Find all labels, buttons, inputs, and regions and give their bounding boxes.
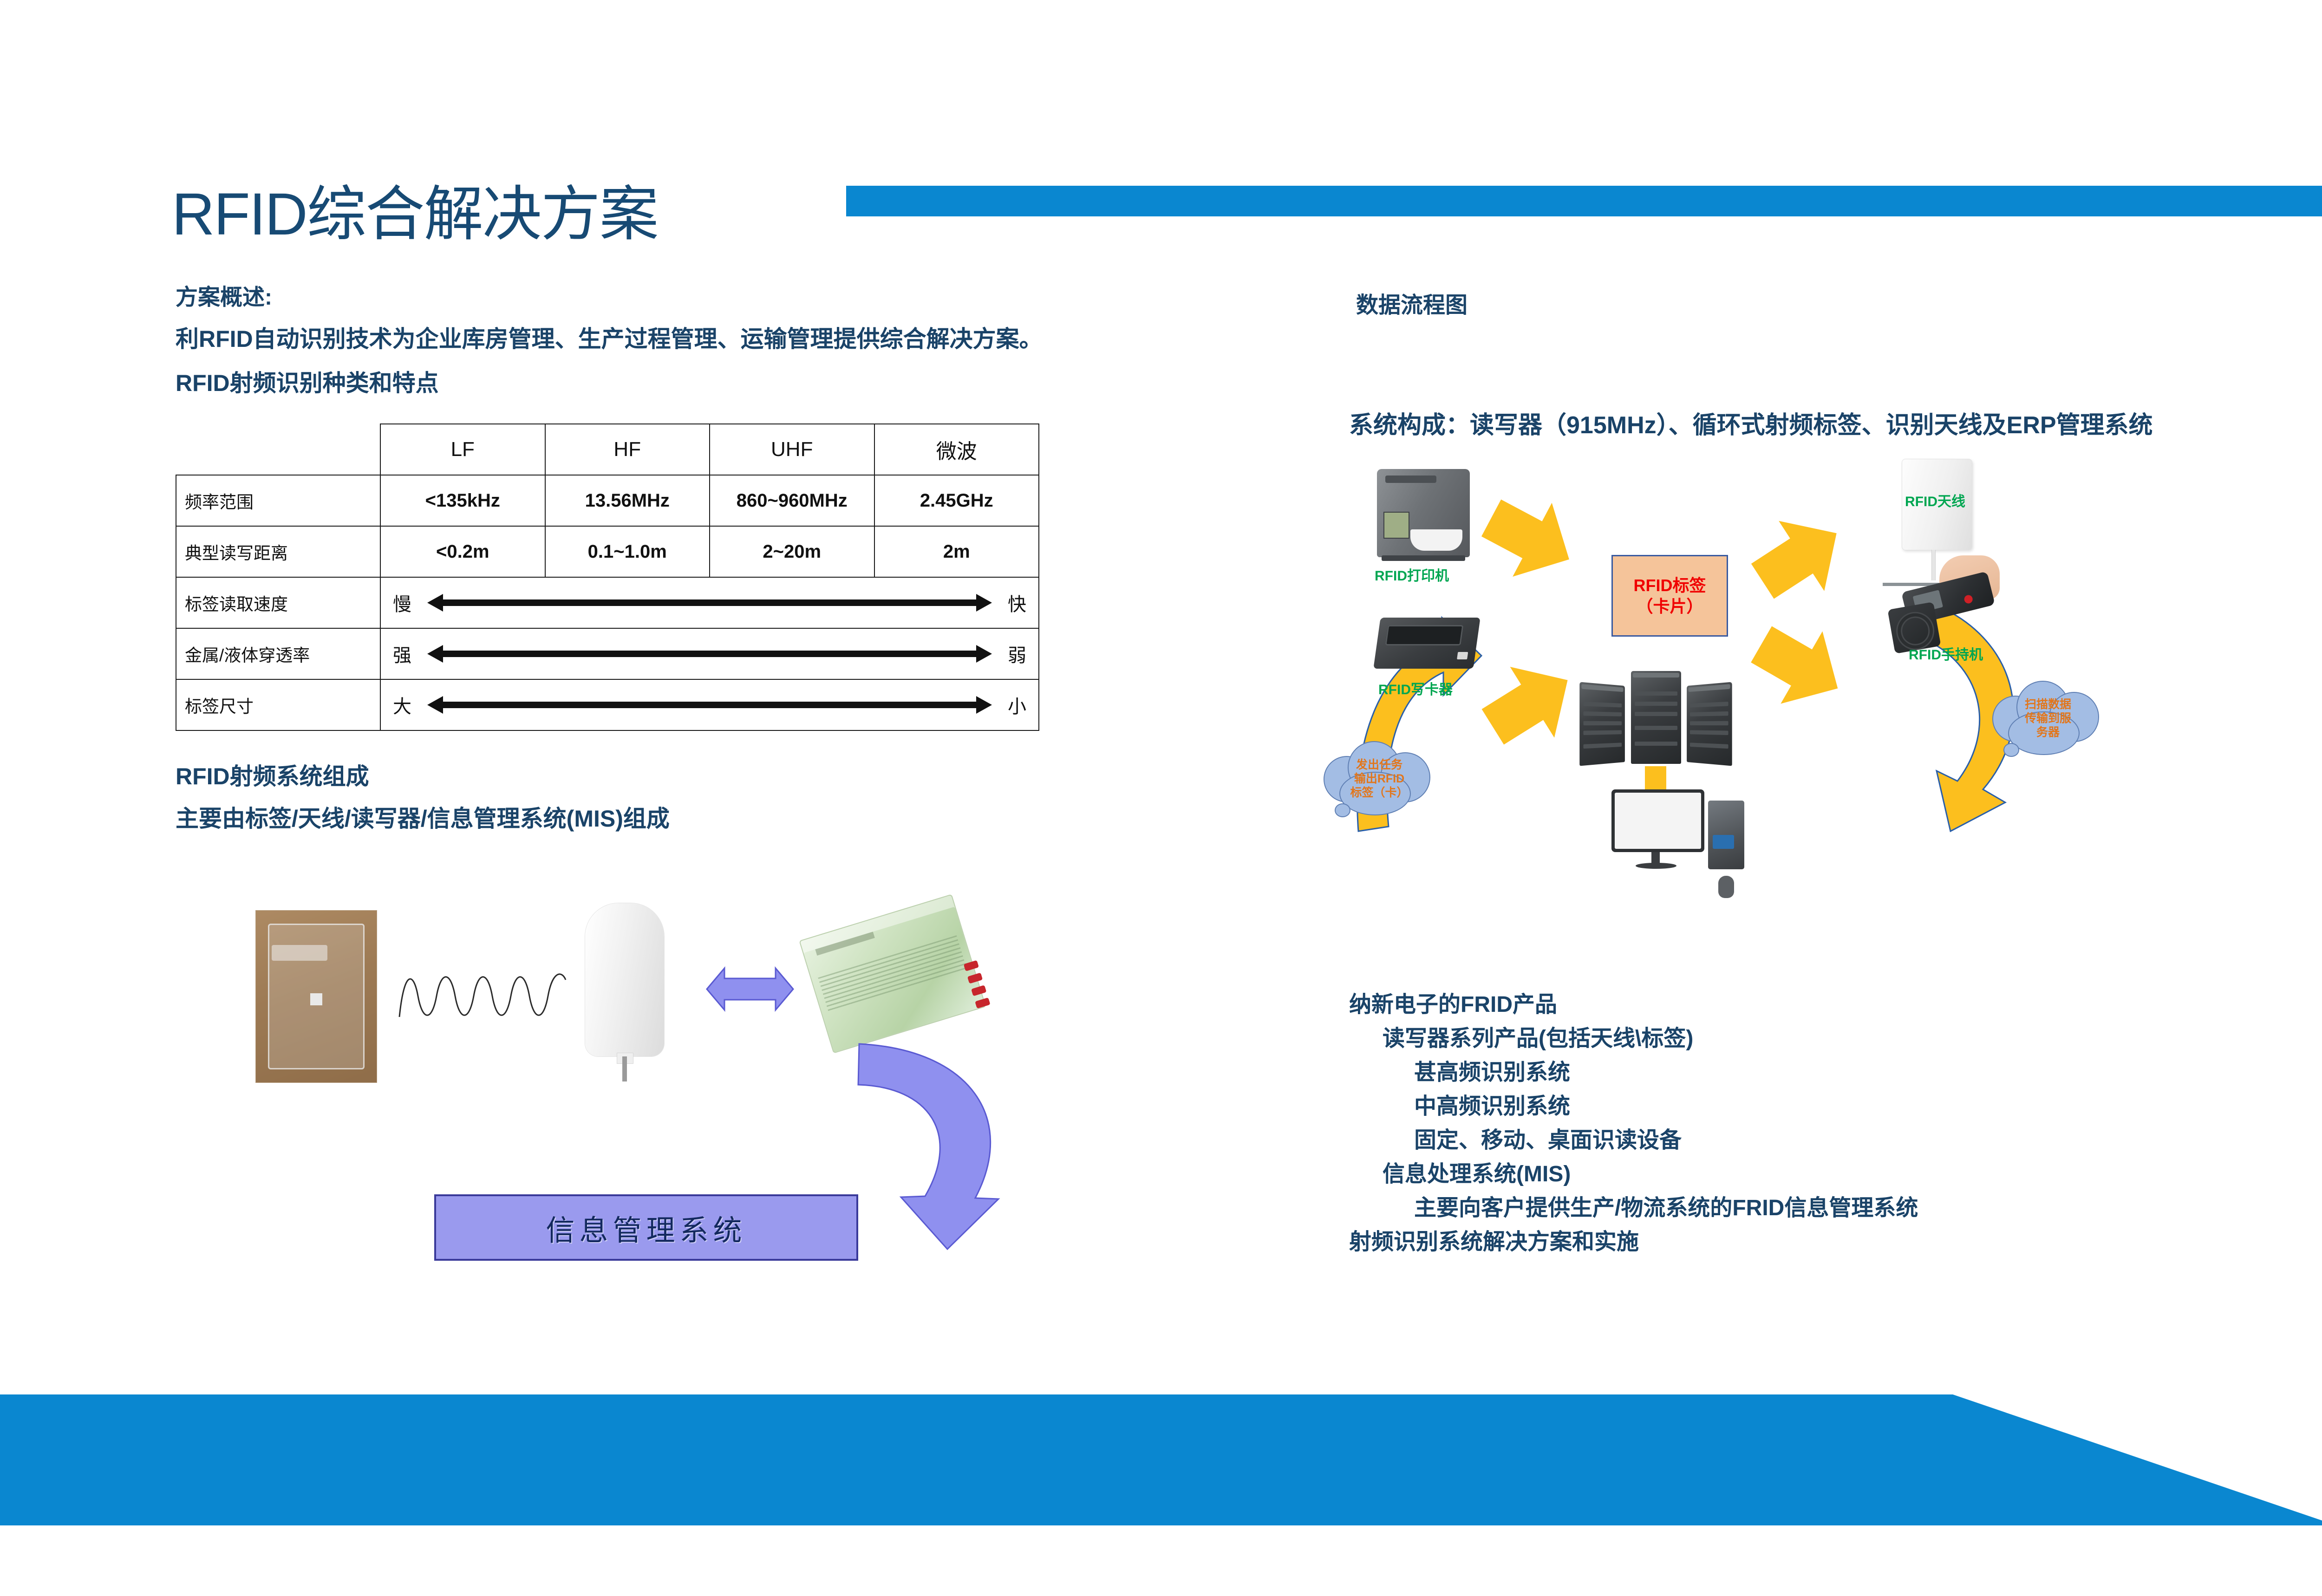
table-header-row: LFHFUHF微波 xyxy=(176,424,1039,475)
table-cell: 2.45GHz xyxy=(874,475,1039,526)
footer-accent-band xyxy=(0,1394,2322,1525)
mis-box: 信息管理系统 xyxy=(434,1194,858,1261)
data-flow-diagram: RFID打印机 RFID写卡器 RFID天线 RFID手持机 RFI xyxy=(1333,464,2150,961)
cloud-left-text: 发出任务输出RFID标签（卡） xyxy=(1319,758,1440,800)
desktop-computer-photo xyxy=(1611,789,1751,896)
scale-cell: 大小 xyxy=(380,679,1039,730)
product-list-item: 信息处理系统(MIS) xyxy=(1349,1158,1918,1192)
table-cell: 2m xyxy=(874,526,1039,577)
overview-label: 方案概述: xyxy=(176,279,272,311)
scale-left-end: 大 xyxy=(393,691,411,718)
rfid-card-writer-photo xyxy=(1373,618,1480,669)
row-header: 频率范围 xyxy=(176,475,380,526)
tag-box-line1: RFID标签 xyxy=(1634,575,1706,596)
product-list: 纳新电子的FRID产品读写器系列产品(包括天线\标签)甚高频识别系统中高频识别系… xyxy=(1349,988,1918,1259)
cloud-right: 扫描数据传输到服务器 xyxy=(1988,678,2108,759)
table-row: 频率范围<135kHz13.56MHz860~960MHz2.45GHz xyxy=(176,475,1039,526)
rfid-reader-photo xyxy=(799,894,986,1053)
table-row: 典型读写距离<0.2m0.1~1.0m2~20m2m xyxy=(176,526,1039,577)
header-accent-bar xyxy=(846,186,2322,216)
table-row: 标签尺寸大小 xyxy=(176,679,1039,730)
curved-arrow-icon xyxy=(831,1036,1031,1254)
row-header: 典型读写距离 xyxy=(176,526,380,577)
data-flow-title: 数据流程图 xyxy=(1356,287,1468,319)
column-header: UHF xyxy=(710,424,874,475)
table-row: 标签读取速度慢快 xyxy=(176,577,1039,628)
scale-cell: 强弱 xyxy=(380,628,1039,679)
rfid-printer-photo xyxy=(1377,469,1470,557)
system-composition-text: 主要由标签/天线/读写器/信息管理系统(MIS)组成 xyxy=(176,800,670,834)
page-title: RFID综合解决方案 xyxy=(172,185,658,244)
bidirectional-arrow-icon xyxy=(706,964,794,1015)
column-header: 微波 xyxy=(874,424,1039,475)
scale-right-end: 小 xyxy=(1008,691,1026,718)
table-cell: <135kHz xyxy=(380,475,545,526)
rfid-handheld-photo xyxy=(1885,557,2002,655)
product-list-item: 中高频识别系统 xyxy=(1349,1090,1918,1124)
tag-box-line2: （卡片） xyxy=(1636,596,1703,617)
table-cell: <0.2m xyxy=(380,526,545,577)
column-header: HF xyxy=(545,424,710,475)
scale-right-end: 弱 xyxy=(1008,640,1026,667)
row-header: 标签读取速度 xyxy=(176,577,380,628)
cloud-left: 发出任务输出RFID标签（卡） xyxy=(1319,738,1440,820)
antenna-label: RFID天线 xyxy=(1905,490,1965,510)
scale-left-end: 慢 xyxy=(393,589,411,616)
mis-box-label: 信息管理系统 xyxy=(546,1207,746,1249)
column-header: LF xyxy=(380,424,545,475)
rfid-tag-photo xyxy=(255,910,377,1083)
overview-text: 利RFID自动识别技术为企业库房管理、生产过程管理、运输管理提供综合解决方案。 xyxy=(176,320,1043,354)
system-composition-title: RFID射频系统组成 xyxy=(176,758,369,791)
server-rack-photo xyxy=(1579,664,1732,764)
table-cell: 2~20m xyxy=(710,526,874,577)
column-header xyxy=(176,424,380,475)
table-row: 金属/液体穿透率强弱 xyxy=(176,628,1039,679)
system-composition-line: 系统构成：读写器（915MHz）、循环式射频标签、识别天线及ERP管理系统 xyxy=(1349,405,2153,440)
table-cell: 13.56MHz xyxy=(545,475,710,526)
product-list-item: 固定、移动、桌面识读设备 xyxy=(1349,1124,1918,1158)
product-list-item: 纳新电子的FRID产品 xyxy=(1349,988,1918,1022)
rfid-antenna-photo xyxy=(585,903,664,1056)
scale-right-end: 快 xyxy=(1008,589,1026,616)
rfid-tag-center-box: RFID标签 （卡片） xyxy=(1611,555,1728,637)
scale-cell: 慢快 xyxy=(380,577,1039,628)
row-header: 标签尺寸 xyxy=(176,679,380,730)
rfid-spec-table: LFHFUHF微波频率范围<135kHz13.56MHz860~960MHz2.… xyxy=(176,423,1039,731)
writer-label: RFID写卡器 xyxy=(1378,678,1453,698)
table-cell: 0.1~1.0m xyxy=(545,526,710,577)
product-list-item: 甚高频识别系统 xyxy=(1349,1056,1918,1090)
scale-left-end: 强 xyxy=(393,640,411,667)
cloud-right-text: 扫描数据传输到服务器 xyxy=(1988,697,2108,739)
rfid-types-label: RFID射频识别种类和特点 xyxy=(176,365,439,398)
table-cell: 860~960MHz xyxy=(710,475,874,526)
product-list-item: 主要向客户提供生产/物流系统的FRID信息管理系统 xyxy=(1349,1192,1918,1225)
product-list-item: 射频识别系统解决方案和实施 xyxy=(1349,1225,1918,1259)
product-list-item: 读写器系列产品(包括天线\标签) xyxy=(1349,1022,1918,1056)
handheld-label: RFID手持机 xyxy=(1909,643,1983,664)
row-header: 金属/液体穿透率 xyxy=(176,628,380,679)
printer-label: RFID打印机 xyxy=(1375,564,1449,585)
radio-wave-icon xyxy=(399,961,567,1031)
